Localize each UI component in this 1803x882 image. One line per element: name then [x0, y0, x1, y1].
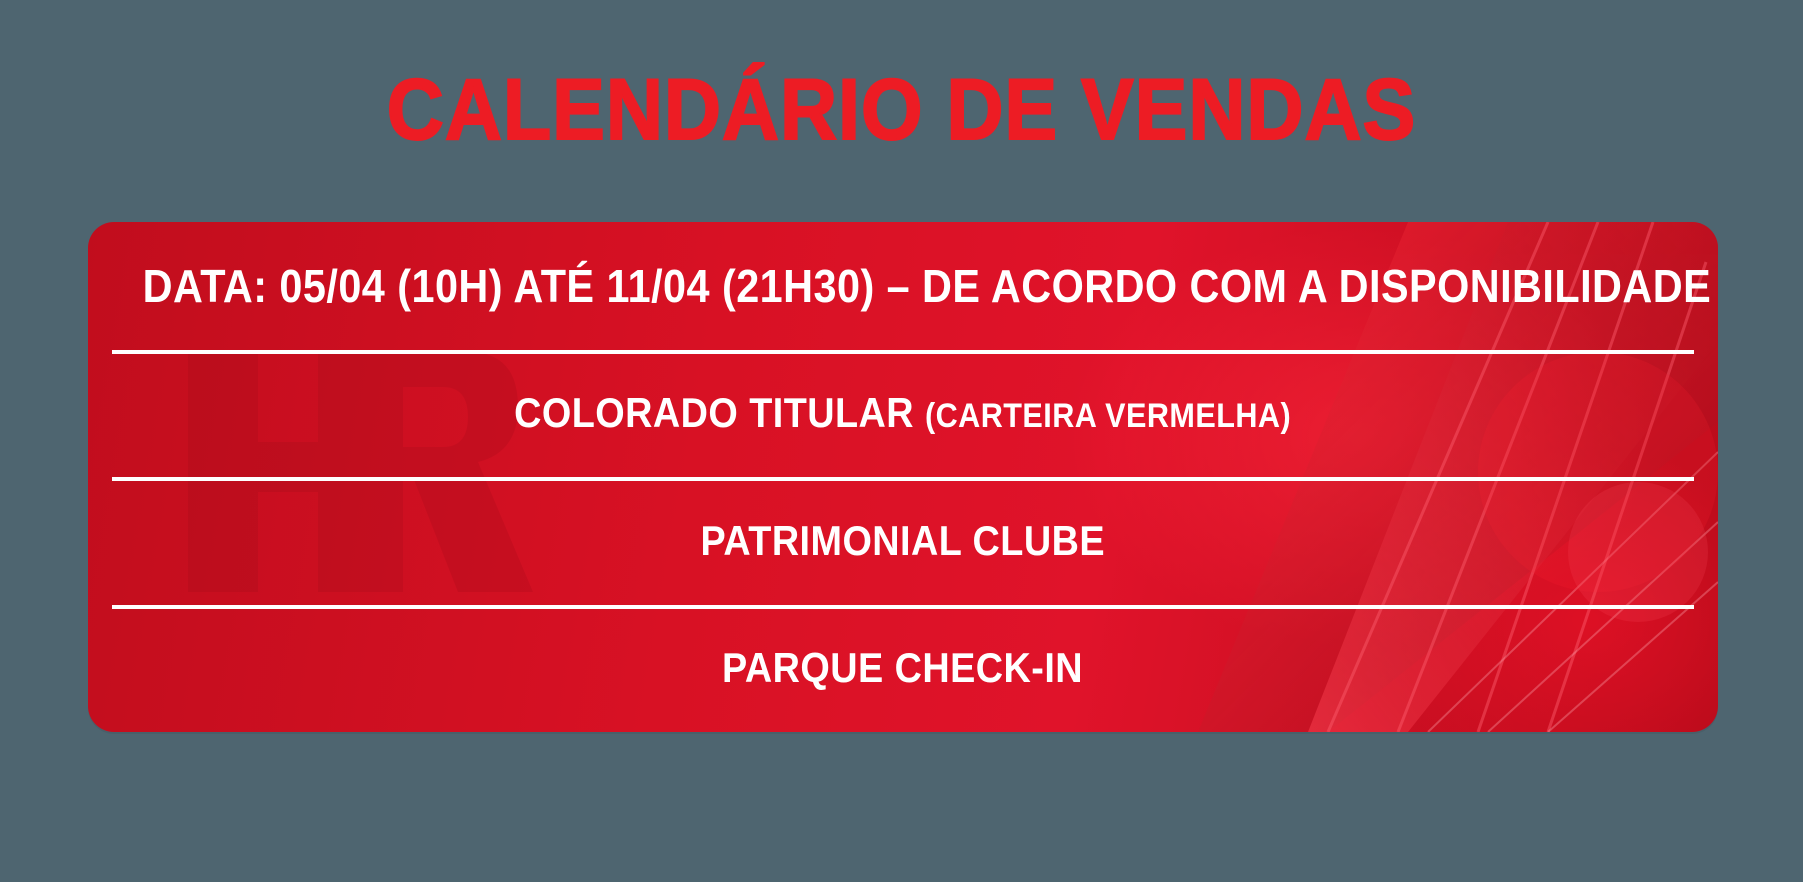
- date-row-label: DATA: 05/04 (10H) ATÉ 11/04 (21H30) – DE…: [112, 259, 1711, 313]
- colorado-titular-text: COLORADO TITULAR: [515, 389, 915, 436]
- parque-check-in-label: PARQUE CHECK-IN: [723, 644, 1084, 692]
- calendar-rows: DATA: 05/04 (10H) ATÉ 11/04 (21H30) – DE…: [88, 222, 1718, 732]
- table-row: PATRIMONIAL CLUBE: [112, 477, 1694, 605]
- table-row: DATA: 05/04 (10H) ATÉ 11/04 (21H30) – DE…: [112, 222, 1694, 350]
- colorado-titular-label: COLORADO TITULAR (CARTEIRA VERMELHA): [515, 389, 1292, 437]
- colorado-titular-subtext: (CARTEIRA VERMELHA): [925, 397, 1291, 435]
- patrimonial-clube-label: PATRIMONIAL CLUBE: [701, 517, 1106, 565]
- page-title: CALENDÁRIO DE VENDAS: [72, 62, 1731, 158]
- sales-calendar-card: DATA: 05/04 (10H) ATÉ 11/04 (21H30) – DE…: [88, 222, 1718, 732]
- sales-calendar-poster: CALENDÁRIO DE VENDAS: [0, 0, 1803, 882]
- table-row: PARQUE CHECK-IN: [112, 605, 1694, 733]
- table-row: COLORADO TITULAR (CARTEIRA VERMELHA): [112, 350, 1694, 478]
